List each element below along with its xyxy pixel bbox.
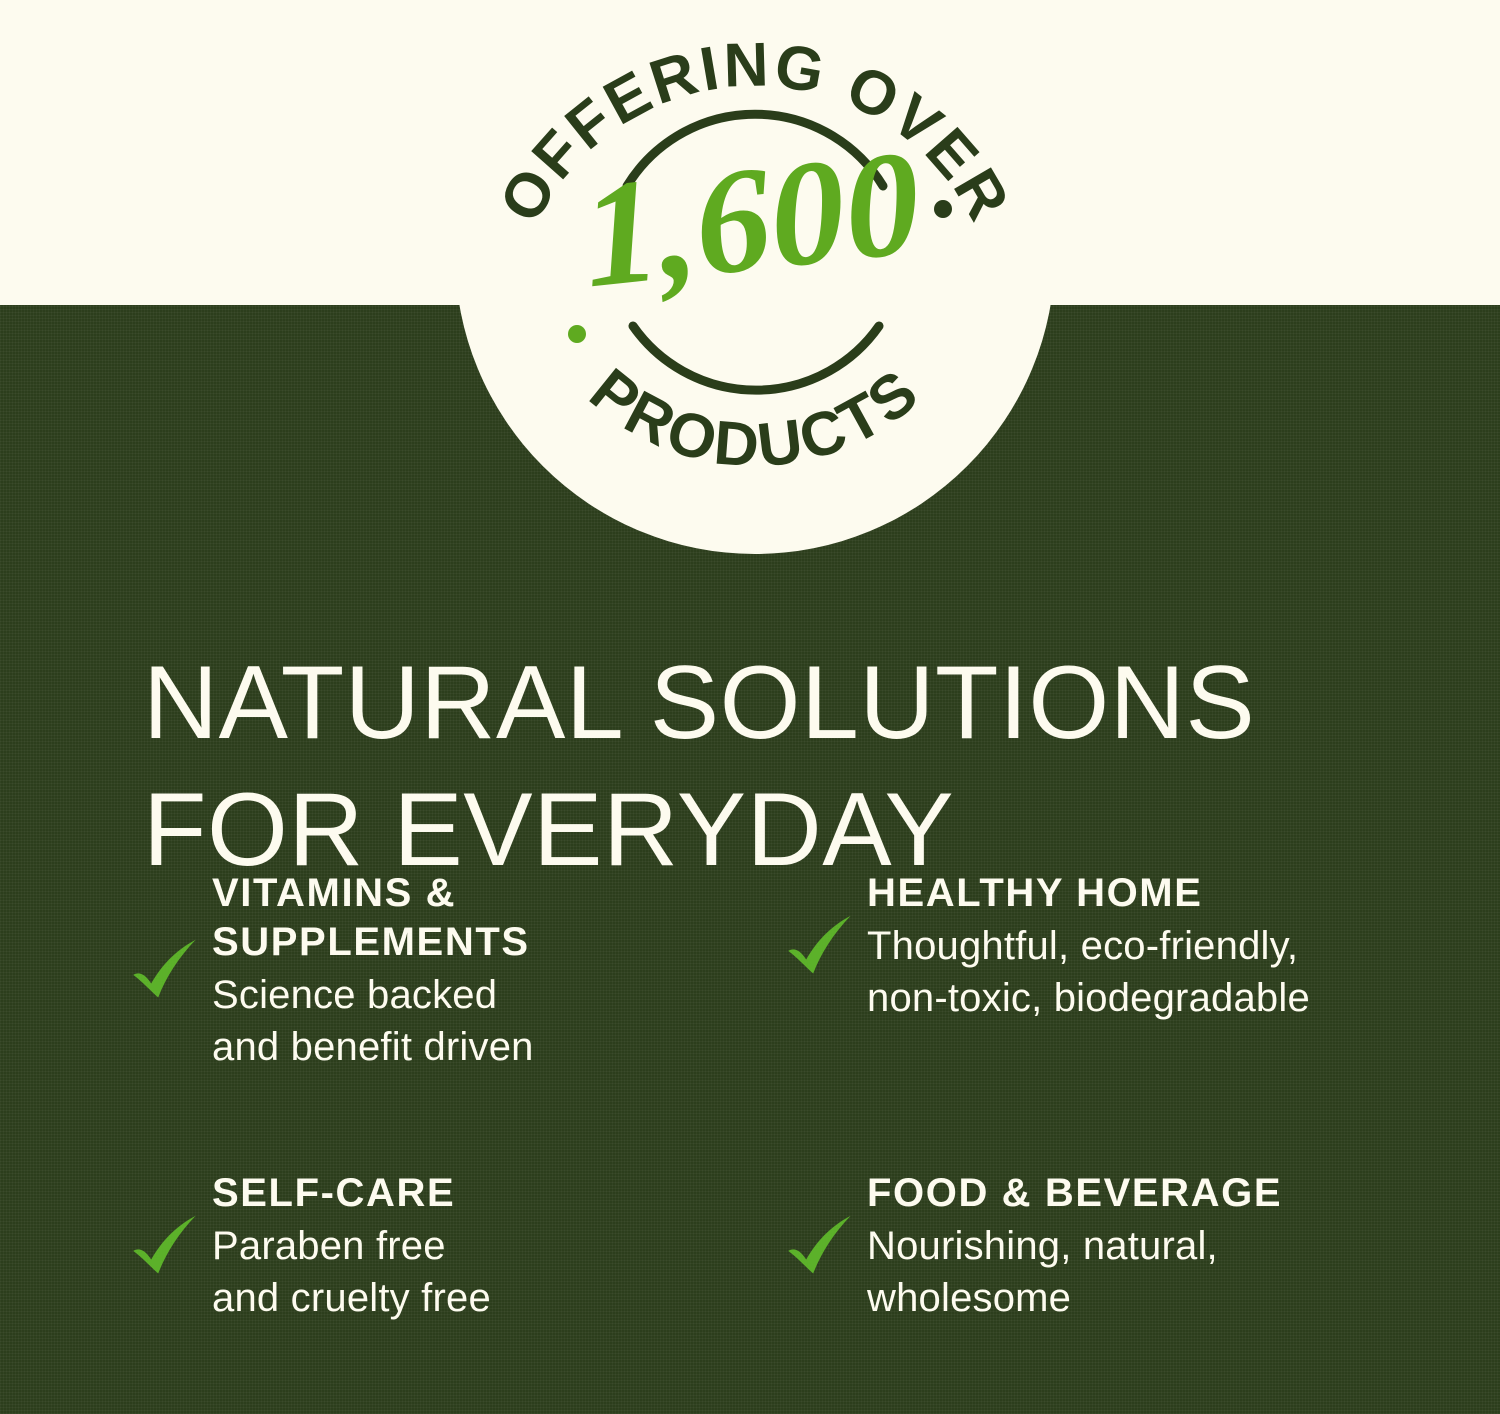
feature-grid: VITAMINS & SUPPLEMENTS Science backed an… xyxy=(120,865,1460,1324)
feature-title: VITAMINS & SUPPLEMENTS xyxy=(212,869,775,967)
arc-curve-bottom-icon xyxy=(633,326,879,390)
page-title: NATURAL SOLUTIONS FOR EVERYDAY xyxy=(143,640,1403,894)
feature-item-vitamins-supplements: VITAMINS & SUPPLEMENTS Science backed an… xyxy=(120,865,775,1165)
feature-item-food-beverage: FOOD & BEVERAGE Nourishing, natural, who… xyxy=(775,1165,1460,1324)
checkmark-icon xyxy=(775,1187,867,1307)
infographic-canvas: OFFERING OVER PRODUCTS 1,600 NATURAL SOL… xyxy=(0,0,1500,1414)
badge-product-count: 1,600 xyxy=(575,119,928,319)
feature-text-block: VITAMINS & SUPPLEMENTS Science backed an… xyxy=(212,865,775,1073)
badge-graphic: OFFERING OVER PRODUCTS 1,600 xyxy=(455,0,1055,554)
dot-left-icon xyxy=(568,325,586,343)
feature-title: HEALTHY HOME xyxy=(867,869,1460,918)
feature-item-healthy-home: HEALTHY HOME Thoughtful, eco-friendly, n… xyxy=(775,865,1460,1165)
badge-arc-bottom-text: PRODUCTS xyxy=(577,356,933,481)
feature-description: Paraben free and cruelty free xyxy=(212,1220,775,1324)
feature-description: Thoughtful, eco-friendly, non-toxic, bio… xyxy=(867,920,1460,1024)
feature-description: Science backed and benefit driven xyxy=(212,969,775,1073)
feature-text-block: FOOD & BEVERAGE Nourishing, natural, who… xyxy=(867,1165,1460,1324)
checkmark-icon xyxy=(120,911,212,1031)
feature-text-block: HEALTHY HOME Thoughtful, eco-friendly, n… xyxy=(867,865,1460,1024)
checkmark-icon xyxy=(120,1187,212,1307)
feature-title: FOOD & BEVERAGE xyxy=(867,1169,1460,1218)
feature-item-self-care: SELF-CARE Paraben free and cruelty free xyxy=(120,1165,775,1324)
feature-description: Nourishing, natural, wholesome xyxy=(867,1220,1460,1324)
dot-right-icon xyxy=(934,200,952,218)
headline-line-1: NATURAL SOLUTIONS xyxy=(143,640,1403,767)
checkmark-icon xyxy=(775,887,867,1007)
offering-badge: OFFERING OVER PRODUCTS 1,600 xyxy=(455,0,1055,554)
feature-text-block: SELF-CARE Paraben free and cruelty free xyxy=(212,1165,775,1324)
feature-title: SELF-CARE xyxy=(212,1169,775,1218)
